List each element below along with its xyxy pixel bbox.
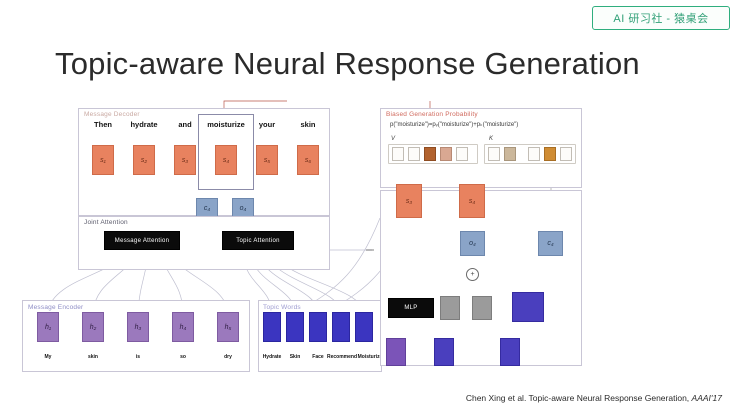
decoder-token: skin	[292, 120, 324, 129]
decoder-state-cell: s₃	[174, 145, 196, 175]
encoder-state-cell: h₂	[82, 312, 104, 342]
encoder-state-cell: h₃	[127, 312, 149, 342]
vocab-cell-selected	[544, 147, 556, 161]
topic-word-cell	[332, 312, 350, 342]
vocab-cell	[408, 147, 420, 161]
right-context-cell: c₄	[538, 231, 563, 256]
encoder-token: skin	[77, 354, 109, 360]
generation-probability-formula: p("moisturize")=pᵥ("moisturize")+pₖ("moi…	[390, 121, 518, 128]
input-violet-cell	[386, 338, 406, 366]
topic-word-cell	[309, 312, 327, 342]
message-decoder-label: Message Decoder	[84, 111, 140, 118]
encoder-token: dry	[212, 354, 244, 360]
topic-word-cell	[355, 312, 373, 342]
message-attention-box: Message Attention	[104, 231, 180, 250]
topic-words-label: Topic Words	[263, 304, 301, 311]
decoder-state-cell: s₄	[215, 145, 237, 175]
decoder-output-cell: o₄	[232, 198, 254, 218]
citation-venue: AAAI'17	[692, 393, 722, 403]
decoder-token: Then	[85, 120, 121, 129]
topic-word-cell	[263, 312, 281, 342]
vocab-v-label: V	[391, 136, 395, 142]
decoder-context-cell: c₄	[196, 198, 218, 218]
vocab-cell	[528, 147, 540, 161]
vocab-cell	[504, 147, 516, 161]
topic-word-cell	[286, 312, 304, 342]
decoder-state-cell: s₆	[297, 145, 319, 175]
biased-generation-label: Biased Generation Probability	[386, 111, 478, 118]
vocab-cell	[488, 147, 500, 161]
encoder-state-cell: h₁	[37, 312, 59, 342]
architecture-figure: Message Decoder Then hydrate and moistur…	[0, 98, 740, 388]
citation-authors: Chen Xing et al. Topic-aware Neural Resp…	[466, 393, 689, 403]
decoder-state-cell: s₅	[256, 145, 278, 175]
sum-node: +	[466, 268, 479, 281]
hidden-grey-cell	[440, 296, 460, 320]
encoder-token: so	[167, 354, 199, 360]
decoder-state-cell: s₁	[92, 145, 114, 175]
decoder-token: your	[250, 120, 284, 129]
vocab-cell-selected	[424, 147, 436, 161]
encoder-state-cell: h₅	[217, 312, 239, 342]
topic-word-label: Hydrate	[258, 354, 286, 360]
right-output-cell: o₄	[460, 231, 485, 256]
mlp-box: MLP	[388, 298, 434, 318]
vocab-cell	[456, 147, 468, 161]
encoder-state-cell: h₄	[172, 312, 194, 342]
decoder-state-cell: s₂	[133, 145, 155, 175]
vocab-cell	[440, 147, 452, 161]
brand-badge: AI 研习社 - 猿桌会	[592, 6, 730, 30]
vocab-k-label: K	[489, 136, 493, 142]
encoder-token: is	[122, 354, 154, 360]
hidden-blue-cell	[512, 292, 544, 322]
right-state-cell: s₃	[396, 184, 422, 218]
decoder-token: hydrate	[120, 120, 168, 129]
encoder-token: My	[32, 354, 64, 360]
input-blue-cell	[434, 338, 454, 366]
joint-attention-label: Joint Attention	[84, 219, 128, 226]
page-title: Topic-aware Neural Response Generation	[55, 46, 640, 82]
topic-word-label: Skin	[283, 354, 307, 360]
figure-citation: Chen Xing et al. Topic-aware Neural Resp…	[466, 393, 722, 403]
right-state-cell: s₄	[459, 184, 485, 218]
vocab-cell	[392, 147, 404, 161]
hidden-grey-cell	[472, 296, 492, 320]
topic-attention-box: Topic Attention	[222, 231, 294, 250]
message-encoder-label: Message Encoder	[28, 304, 83, 311]
vocab-cell	[560, 147, 572, 161]
brand-badge-text: AI 研习社 - 猿桌会	[613, 10, 708, 26]
input-blue-cell	[500, 338, 520, 366]
